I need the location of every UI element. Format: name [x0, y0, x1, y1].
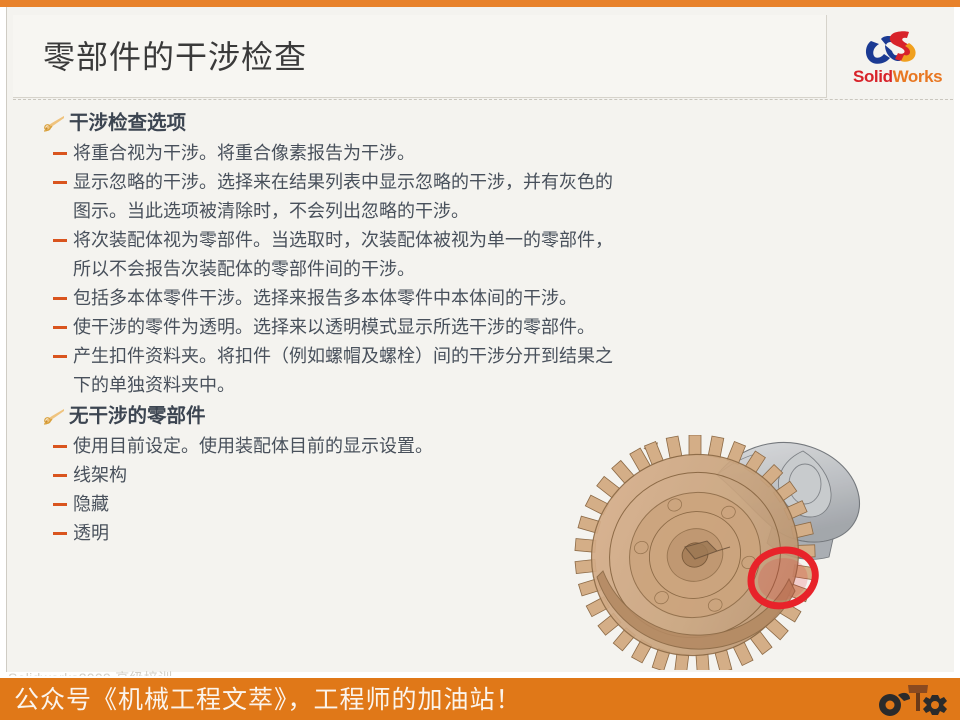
section-heading-2-label: 无干涉的零部件: [69, 406, 206, 427]
dash-marker-icon: [53, 152, 67, 155]
dash-marker-icon: [53, 474, 67, 477]
list-item-line: 所以不会报告次装配体的零部件间的干涉。: [73, 255, 907, 284]
pen-quill-icon: [43, 114, 65, 132]
solidworks-wordmark: SolidWorks: [853, 67, 959, 87]
title-box: 零部件的干涉检查: [13, 15, 827, 98]
logo-word-solid: Solid: [853, 67, 893, 86]
list-item-line: 使干涉的零件为透明。选择来以透明模式显示所选干涉的零部件。: [73, 313, 907, 342]
dash-marker-icon: [53, 445, 67, 448]
dash-marker-icon: [53, 297, 67, 300]
watermark-emblem-icon: [874, 681, 950, 719]
title-divider: [13, 99, 953, 100]
list-item-line: 包括多本体零件干涉。选择来报告多本体零件中本体间的干涉。: [73, 284, 907, 313]
solidworks-logo: SolidWorks: [853, 29, 959, 95]
dash-marker-icon: [53, 503, 67, 506]
list-item-line: 显示忽略的干涉。选择来在结果列表中显示忽略的干涉，并有灰色的: [73, 168, 907, 197]
list-item-line: 将次装配体视为零部件。当选取时，次装配体被视为单一的零部件，: [73, 226, 907, 255]
promo-banner-text: 公众号《机械工程文萃》，工程师的加油站！: [14, 685, 522, 717]
list-item-line: 下的单独资料夹中。: [73, 371, 907, 400]
dash-marker-icon: [53, 532, 67, 535]
promo-banner: 公众号《机械工程文萃》，工程师的加油站！: [0, 676, 960, 720]
gear-assembly-interference-3d-view: [567, 435, 867, 670]
list-item: 将次装配体视为零部件。当选取时，次装配体被视为单一的零部件， 所以不会报告次装配…: [7, 226, 907, 284]
content-panel: 零部件的干涉检查 SolidWorks: [6, 7, 954, 672]
dash-marker-icon: [53, 239, 67, 242]
interference-highlight-region: [751, 550, 815, 606]
dassault-systemes-ds-mark-icon: [861, 29, 929, 69]
top-accent-rule: [0, 0, 960, 7]
list-item: 产生扣件资料夹。将扣件（例如螺帽及螺栓）间的干涉分开到结果之 下的单独资料夹中。: [7, 342, 907, 400]
section-heading-2: 无干涉的零部件: [7, 402, 955, 431]
page-title: 零部件的干涉检查: [43, 35, 307, 79]
pen-quill-icon: [43, 407, 65, 425]
dash-marker-icon: [53, 181, 67, 184]
section-heading-1: 干涉检查选项: [7, 109, 955, 138]
list-item: 将重合视为干涉。将重合像素报告为干涉。: [7, 139, 907, 168]
dash-marker-icon: [53, 326, 67, 329]
list-item-line: 将重合视为干涉。将重合像素报告为干涉。: [73, 139, 907, 168]
slide-root: 零部件的干涉检查 SolidWorks: [0, 0, 960, 720]
list-item: 显示忽略的干涉。选择来在结果列表中显示忽略的干涉，并有灰色的 图示。当此选项被清…: [7, 168, 907, 226]
logo-word-works: Works: [893, 67, 943, 86]
dash-marker-icon: [53, 355, 67, 358]
list-item-line: 产生扣件资料夹。将扣件（例如螺帽及螺栓）间的干涉分开到结果之: [73, 342, 907, 371]
list-item-line: 图示。当此选项被清除时，不会列出忽略的干涉。: [73, 197, 907, 226]
section-heading-1-label: 干涉检查选项: [69, 113, 186, 134]
list-item: 使干涉的零件为透明。选择来以透明模式显示所选干涉的零部件。: [7, 313, 907, 342]
list-item: 包括多本体零件干涉。选择来报告多本体零件中本体间的干涉。: [7, 284, 907, 313]
